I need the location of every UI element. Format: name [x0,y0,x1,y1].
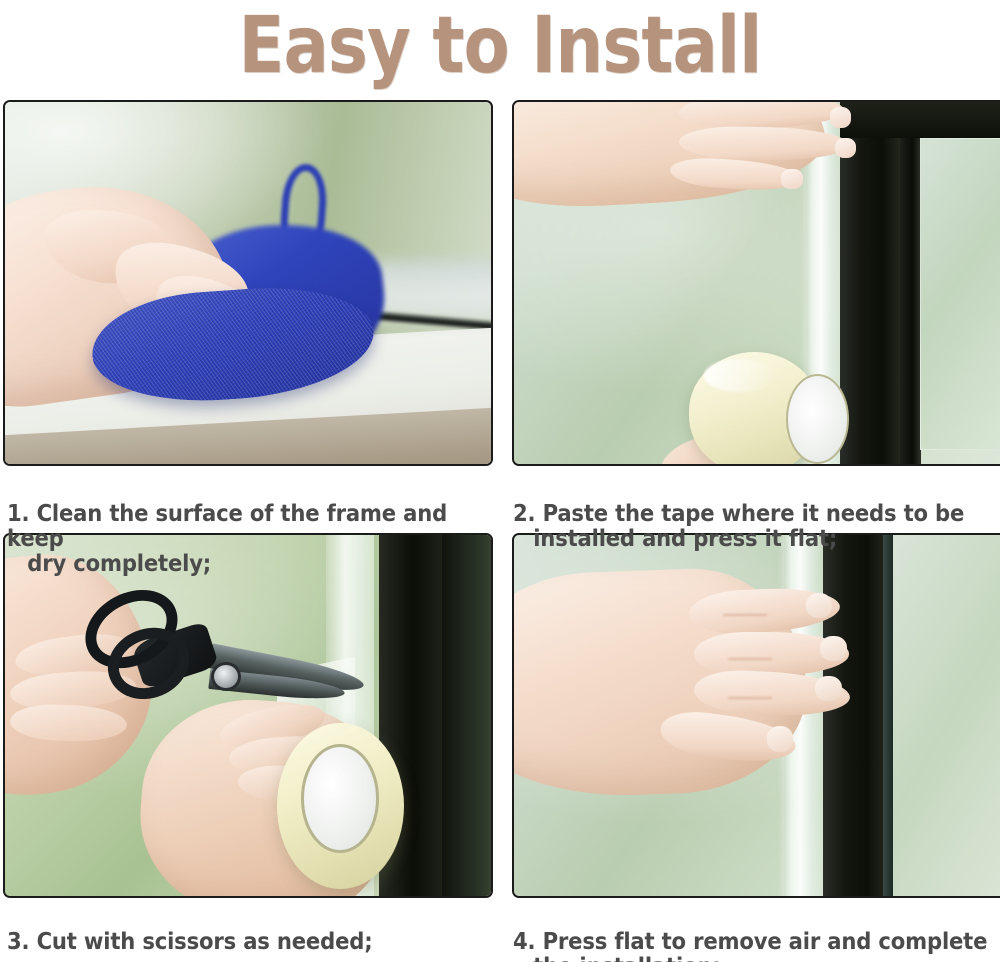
step-caption-4: 4. Press flat to remove air and complete… [513,905,1000,962]
window-frame-dark [823,533,886,898]
step-caption-1-line2: dry completely; [7,552,504,577]
tape-roll-highlight [704,359,777,392]
scene-apply-tape [514,102,1000,464]
title-bar: Easy to Install [0,0,1000,92]
fingernail [830,107,851,127]
page-title: Easy to Install [239,5,762,87]
fingernail [835,138,856,158]
step-caption-1: 1. Clean the surface of the frame and ke… [7,477,504,602]
step-photo-2 [512,100,1000,466]
step-caption-1-line1: 1. Clean the surface of the frame and ke… [7,501,447,552]
knuckle-crease [723,614,767,616]
knuckle-crease [728,697,772,699]
adjacent-glass-pane [920,138,1000,449]
fingernail [781,169,802,189]
step-caption-3-line1: 3. Cut with scissors as needed; [7,929,372,955]
fingernail [820,636,847,661]
step-caption-2-line1: 2. Paste the tape where it needs to be [513,501,964,527]
scene-clean-windowsill [5,102,491,464]
fingernail [767,726,794,751]
step-photo-1 [3,100,493,466]
step-caption-4-line1: 4. Press flat to remove air and complete [513,929,987,955]
window-frame-seam [883,533,893,898]
step-caption-2: 2. Paste the tape where it needs to be i… [513,477,1000,577]
window-mullion [900,100,920,466]
scene-press-flat [514,535,1000,896]
tape-roll-core [301,744,379,852]
step-caption-2-line2: installed and press it flat; [513,527,1000,552]
tape-roll-core [786,374,849,465]
fingernail [815,676,842,701]
step-caption-4-line2: the installation; [513,955,1000,962]
fingernail [806,593,833,618]
step-photo-4 [512,533,1000,898]
adjacent-glass-pane [893,533,1000,898]
infographic-root: Easy to Install [0,0,1000,962]
knuckle-crease [728,658,772,660]
window-frame-top-bar [840,100,1000,138]
step-caption-3: 3. Cut with scissors as needed; [7,905,504,955]
